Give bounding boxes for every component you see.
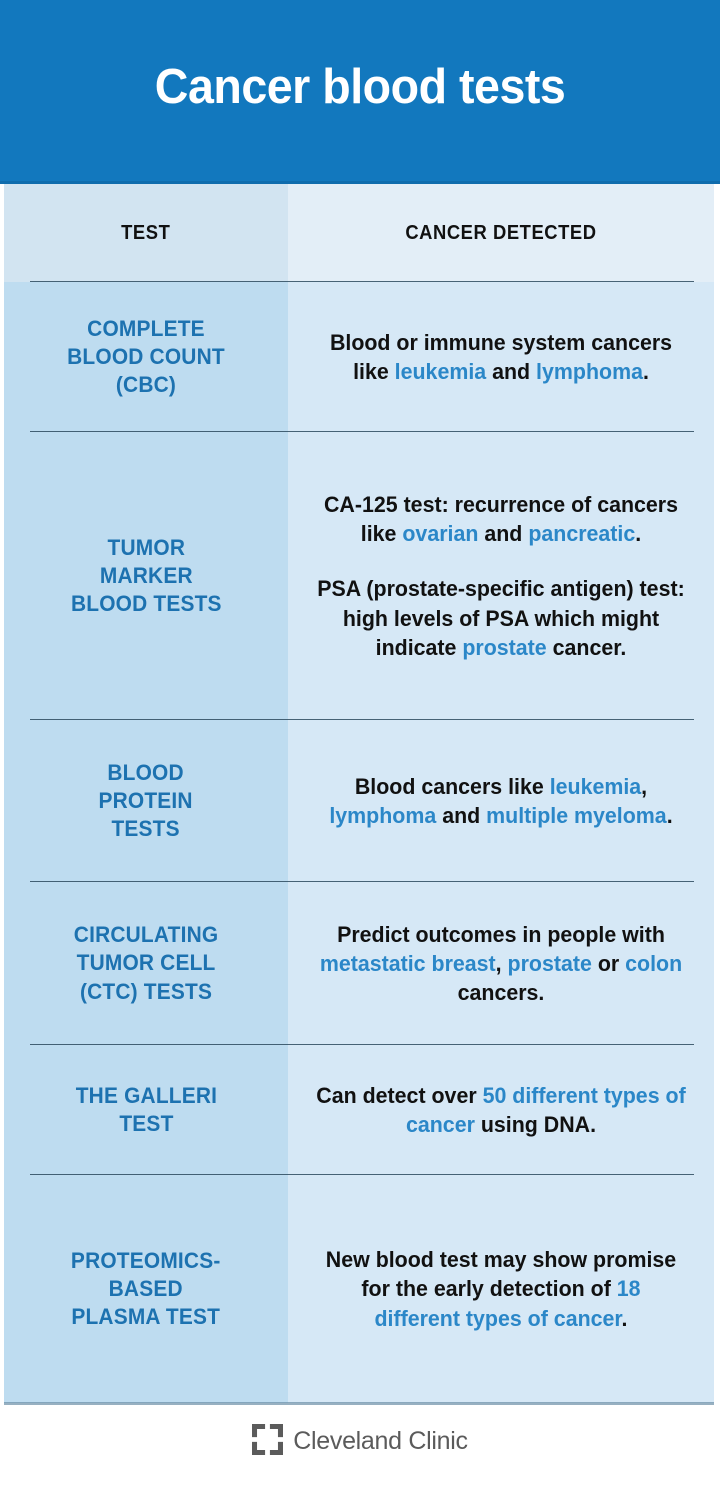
highlighted-term: metastatic breast	[320, 951, 496, 976]
cancer-detected-paragraph: Predict outcomes in people with metastat…	[316, 920, 687, 1008]
cleveland-clinic-logo: Cleveland Clinic	[252, 1424, 467, 1460]
page-title: Cancer blood tests	[155, 63, 566, 112]
table-row: CIRCULATINGTUMOR CELL(CTC) TESTSPredict …	[4, 882, 714, 1045]
highlighted-term: colon	[625, 951, 682, 976]
highlighted-term: lymphoma	[536, 359, 643, 384]
cell-cancer-detected: New blood test may show promise for the …	[288, 1175, 714, 1403]
cell-test: PROTEOMICS-BASEDPLASMA TEST	[4, 1175, 288, 1403]
test-name-label: COMPLETEBLOOD COUNT(CBC)	[67, 315, 225, 399]
table-body: TEST CANCER DETECTED COMPLETEBLOOD COUNT…	[4, 184, 714, 1403]
column-header-test: TEST	[4, 184, 288, 282]
cell-test: THE GALLERITEST	[4, 1045, 288, 1175]
highlighted-term: leukemia	[395, 359, 486, 384]
highlighted-term: ovarian	[402, 521, 478, 546]
highlighted-term: 18 different types of cancer	[374, 1276, 640, 1330]
cell-test: TUMORMARKERBLOOD TESTS	[4, 432, 288, 720]
cancer-detected-paragraph: Blood or immune system cancers like leuk…	[316, 328, 687, 387]
table-row: TUMORMARKERBLOOD TESTSCA-125 test: recur…	[4, 432, 714, 720]
test-name-label: CIRCULATINGTUMOR CELL(CTC) TESTS	[74, 921, 219, 1005]
cell-cancer-detected: Can detect over 50 different types of ca…	[288, 1045, 714, 1175]
cancer-detected-paragraph: PSA (prostate-specific antigen) test: hi…	[316, 574, 687, 662]
highlighted-term: 50 different types of cancer	[406, 1083, 686, 1137]
table-row: THE GALLERITESTCan detect over 50 differ…	[4, 1045, 714, 1175]
footer: Cleveland Clinic	[0, 1403, 720, 1480]
table-row: BLOODPROTEINTESTSBlood cancers like leuk…	[4, 720, 714, 882]
highlighted-term: multiple myeloma	[486, 803, 667, 828]
highlighted-term: leukemia	[550, 774, 641, 799]
cancer-detected-paragraph: New blood test may show promise for the …	[316, 1245, 687, 1333]
header-banner: Cancer blood tests	[0, 0, 720, 184]
highlighted-term: prostate	[462, 635, 546, 660]
highlighted-term: lymphoma	[329, 803, 436, 828]
cell-test: CIRCULATINGTUMOR CELL(CTC) TESTS	[4, 882, 288, 1045]
column-header-cancer-detected: CANCER DETECTED	[288, 184, 714, 282]
cleveland-clinic-logo-text: Cleveland Clinic	[293, 1427, 467, 1456]
cell-cancer-detected: CA-125 test: recurrence of cancers like …	[288, 432, 714, 720]
cleveland-clinic-pinwheel-icon	[252, 1424, 283, 1460]
table-header-row: TEST CANCER DETECTED	[4, 184, 714, 282]
comparison-table: TEST CANCER DETECTED COMPLETEBLOOD COUNT…	[0, 184, 720, 1403]
cancer-detected-paragraph: Blood cancers like leukemia, lymphoma an…	[316, 772, 687, 831]
cancer-detected-paragraph: CA-125 test: recurrence of cancers like …	[316, 490, 687, 549]
column-header-cancer-detected-label: CANCER DETECTED	[405, 222, 596, 245]
cell-cancer-detected: Blood cancers like leukemia, lymphoma an…	[288, 720, 714, 882]
table-rows-host: COMPLETEBLOOD COUNT(CBC)Blood or immune …	[4, 282, 714, 1403]
test-name-label: TUMORMARKERBLOOD TESTS	[71, 534, 222, 618]
test-name-label: THE GALLERITEST	[75, 1082, 216, 1138]
table-row: PROTEOMICS-BASEDPLASMA TESTNew blood tes…	[4, 1175, 714, 1403]
column-header-test-label: TEST	[121, 222, 170, 245]
test-name-label: BLOODPROTEINTESTS	[99, 759, 193, 843]
test-name-label: PROTEOMICS-BASEDPLASMA TEST	[71, 1247, 221, 1331]
cell-test: BLOODPROTEINTESTS	[4, 720, 288, 882]
cell-cancer-detected: Blood or immune system cancers like leuk…	[288, 282, 714, 432]
cell-cancer-detected: Predict outcomes in people with metastat…	[288, 882, 714, 1045]
cell-test: COMPLETEBLOOD COUNT(CBC)	[4, 282, 288, 432]
cancer-detected-paragraph: Can detect over 50 different types of ca…	[316, 1081, 687, 1140]
highlighted-term: prostate	[508, 951, 592, 976]
infographic-cancer-blood-tests: Cancer blood tests TEST CANCER DETECTED …	[0, 0, 720, 1489]
table-row: COMPLETEBLOOD COUNT(CBC)Blood or immune …	[4, 282, 714, 432]
highlighted-term: pancreatic	[528, 521, 635, 546]
